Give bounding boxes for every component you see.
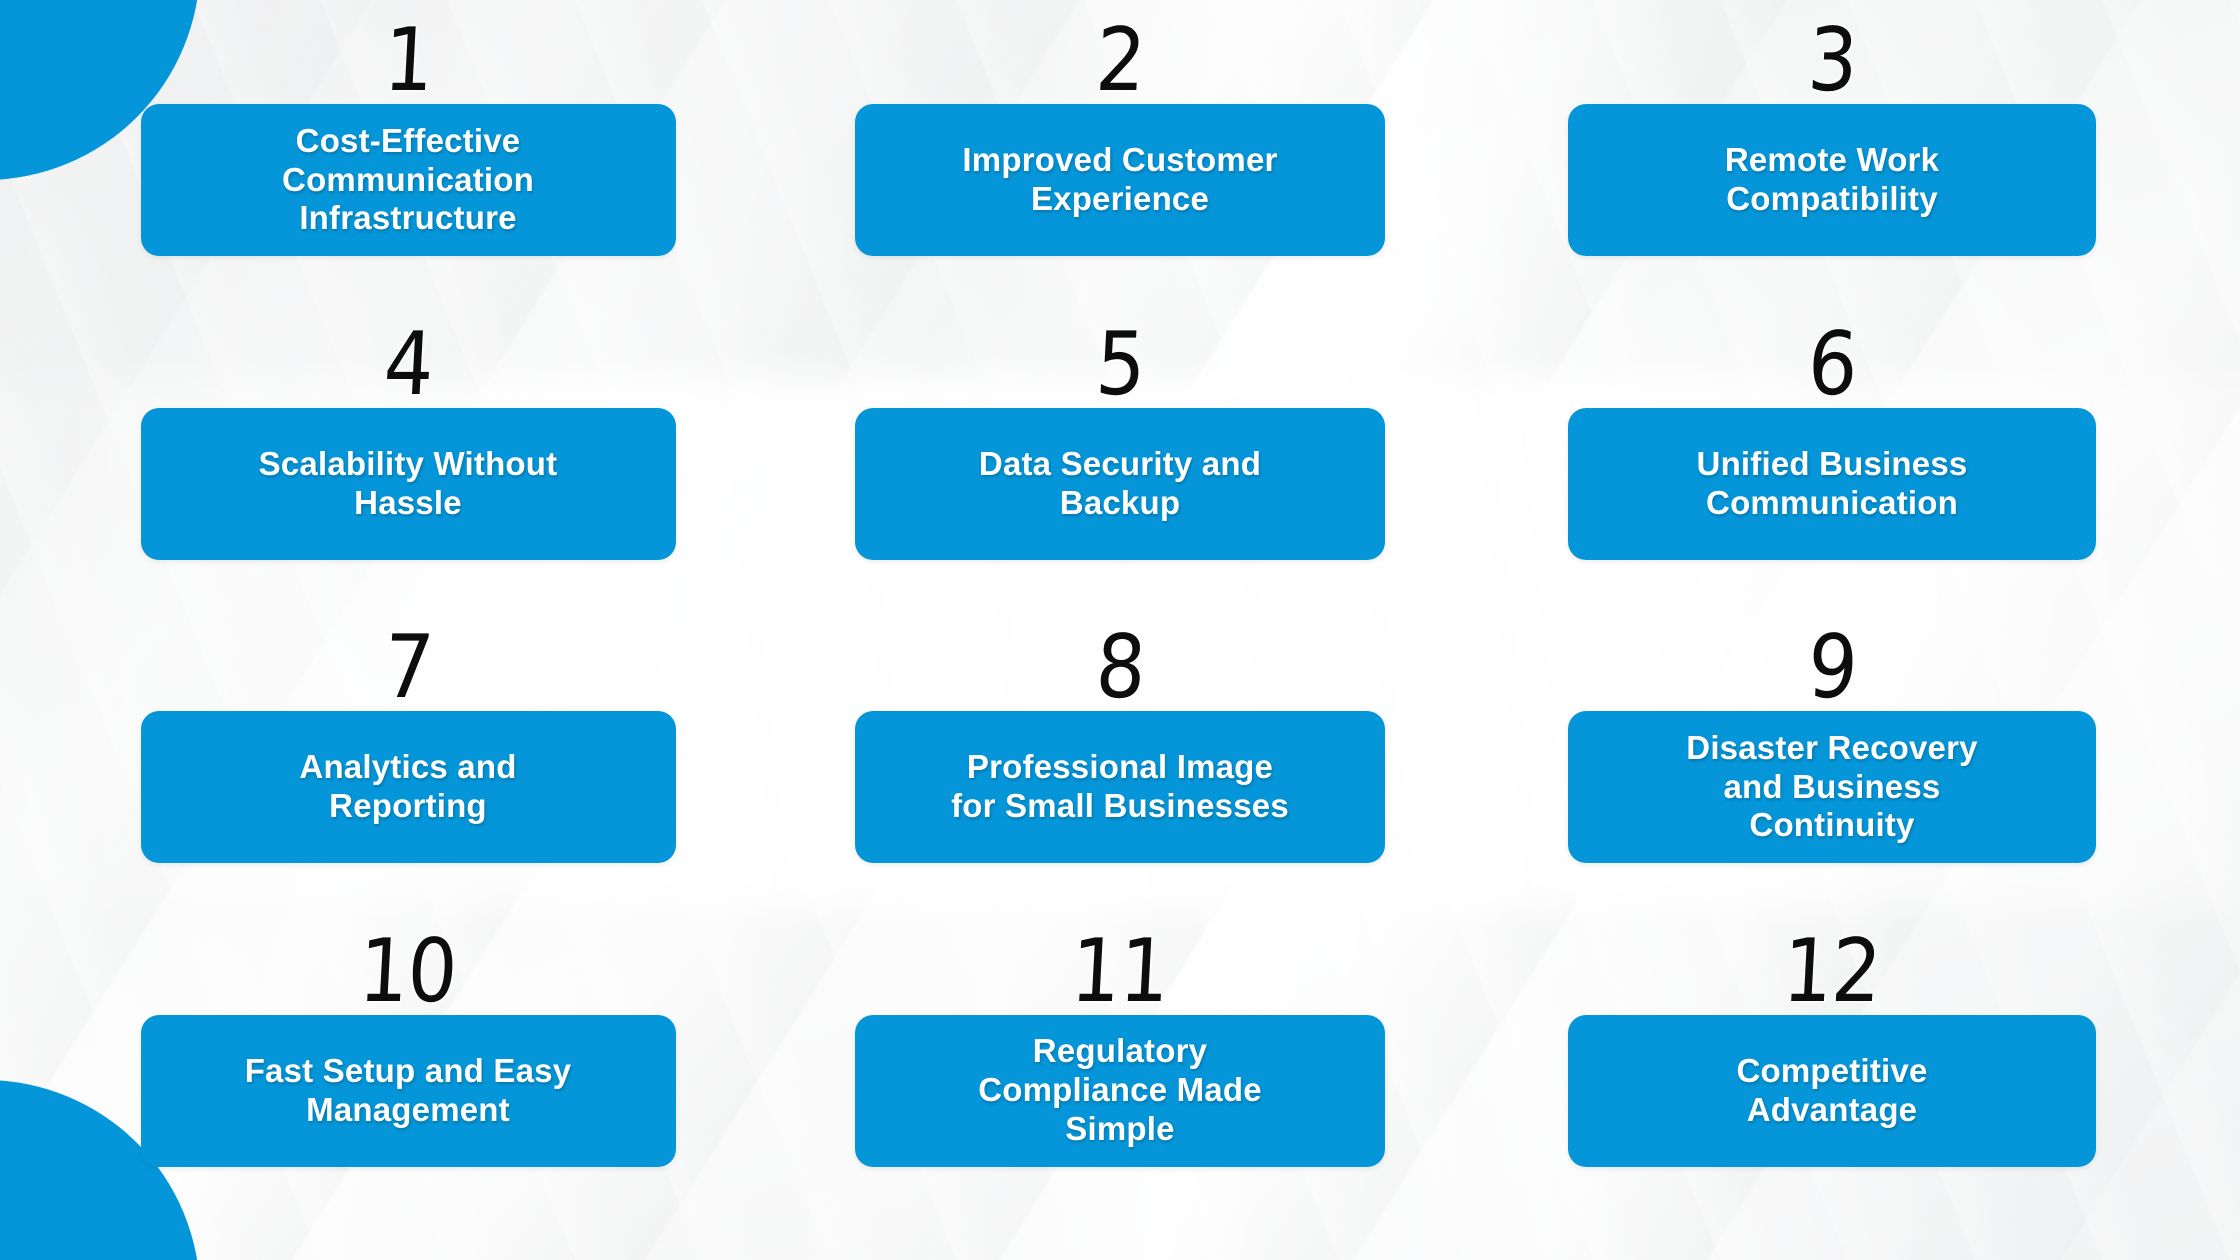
- benefit-item-10[interactable]: 10 Fast Setup and Easy Management: [70, 929, 746, 1233]
- benefit-card-9[interactable]: Disaster Recovery and Business Continuit…: [1568, 711, 2096, 863]
- benefit-number-11: 11: [1069, 923, 1171, 1019]
- benefit-item-1[interactable]: 1 Cost-Effective Communication Infrastru…: [70, 18, 746, 322]
- infographic-canvas: 1 Cost-Effective Communication Infrastru…: [0, 0, 2240, 1260]
- benefit-number-5: 5: [1093, 316, 1147, 412]
- benefit-card-8[interactable]: Professional Image for Small Businesses: [855, 711, 1385, 863]
- benefit-card-12[interactable]: Competitive Advantage: [1568, 1015, 2096, 1167]
- benefit-label-12: Competitive Advantage: [1736, 1052, 1927, 1130]
- benefit-item-2[interactable]: 2 Improved Customer Experience: [782, 18, 1458, 322]
- benefit-label-9: Disaster Recovery and Business Continuit…: [1686, 729, 1977, 846]
- benefit-item-4[interactable]: 4 Scalability Without Hassle: [70, 322, 746, 626]
- benefit-label-10: Fast Setup and Easy Management: [245, 1052, 572, 1130]
- benefit-label-7: Analytics and Reporting: [299, 748, 516, 826]
- benefit-number-8: 8: [1093, 620, 1147, 716]
- benefit-card-2[interactable]: Improved Customer Experience: [855, 104, 1385, 256]
- benefit-label-6: Unified Business Communication: [1697, 445, 1968, 523]
- benefit-label-8: Professional Image for Small Businesses: [951, 748, 1289, 826]
- benefit-card-10[interactable]: Fast Setup and Easy Management: [141, 1015, 676, 1167]
- benefit-card-3[interactable]: Remote Work Compatibility: [1568, 104, 2096, 256]
- benefit-card-6[interactable]: Unified Business Communication: [1568, 408, 2096, 560]
- benefit-item-12[interactable]: 12 Competitive Advantage: [1494, 929, 2170, 1233]
- benefit-number-4: 4: [381, 316, 435, 412]
- benefit-label-11: Regulatory Compliance Made Simple: [978, 1032, 1262, 1149]
- benefit-number-6: 6: [1805, 316, 1859, 412]
- benefit-card-4[interactable]: Scalability Without Hassle: [141, 408, 676, 560]
- benefit-item-9[interactable]: 9 Disaster Recovery and Business Continu…: [1494, 625, 2170, 929]
- benefit-number-9: 9: [1805, 620, 1859, 716]
- benefit-card-7[interactable]: Analytics and Reporting: [141, 711, 676, 863]
- benefit-card-1[interactable]: Cost-Effective Communication Infrastruct…: [141, 104, 676, 256]
- benefit-number-3: 3: [1805, 13, 1859, 109]
- benefit-label-3: Remote Work Compatibility: [1725, 141, 1939, 219]
- benefit-item-6[interactable]: 6 Unified Business Communication: [1494, 322, 2170, 626]
- benefit-item-7[interactable]: 7 Analytics and Reporting: [70, 625, 746, 929]
- benefit-card-5[interactable]: Data Security and Backup: [855, 408, 1385, 560]
- benefit-card-11[interactable]: Regulatory Compliance Made Simple: [855, 1015, 1385, 1167]
- benefit-item-5[interactable]: 5 Data Security and Backup: [782, 322, 1458, 626]
- benefits-grid: 1 Cost-Effective Communication Infrastru…: [0, 0, 2240, 1260]
- benefit-item-3[interactable]: 3 Remote Work Compatibility: [1494, 18, 2170, 322]
- benefit-label-5: Data Security and Backup: [979, 445, 1261, 523]
- benefit-label-4: Scalability Without Hassle: [259, 445, 558, 523]
- benefit-number-2: 2: [1093, 13, 1147, 109]
- benefit-label-1: Cost-Effective Communication Infrastruct…: [282, 122, 534, 239]
- benefit-label-2: Improved Customer Experience: [962, 141, 1277, 219]
- benefit-item-11[interactable]: 11 Regulatory Compliance Made Simple: [782, 929, 1458, 1233]
- benefit-item-8[interactable]: 8 Professional Image for Small Businesse…: [782, 625, 1458, 929]
- benefit-number-12: 12: [1781, 923, 1883, 1019]
- benefit-number-1: 1: [381, 13, 435, 109]
- benefit-number-7: 7: [381, 620, 435, 716]
- benefit-number-10: 10: [357, 923, 459, 1019]
